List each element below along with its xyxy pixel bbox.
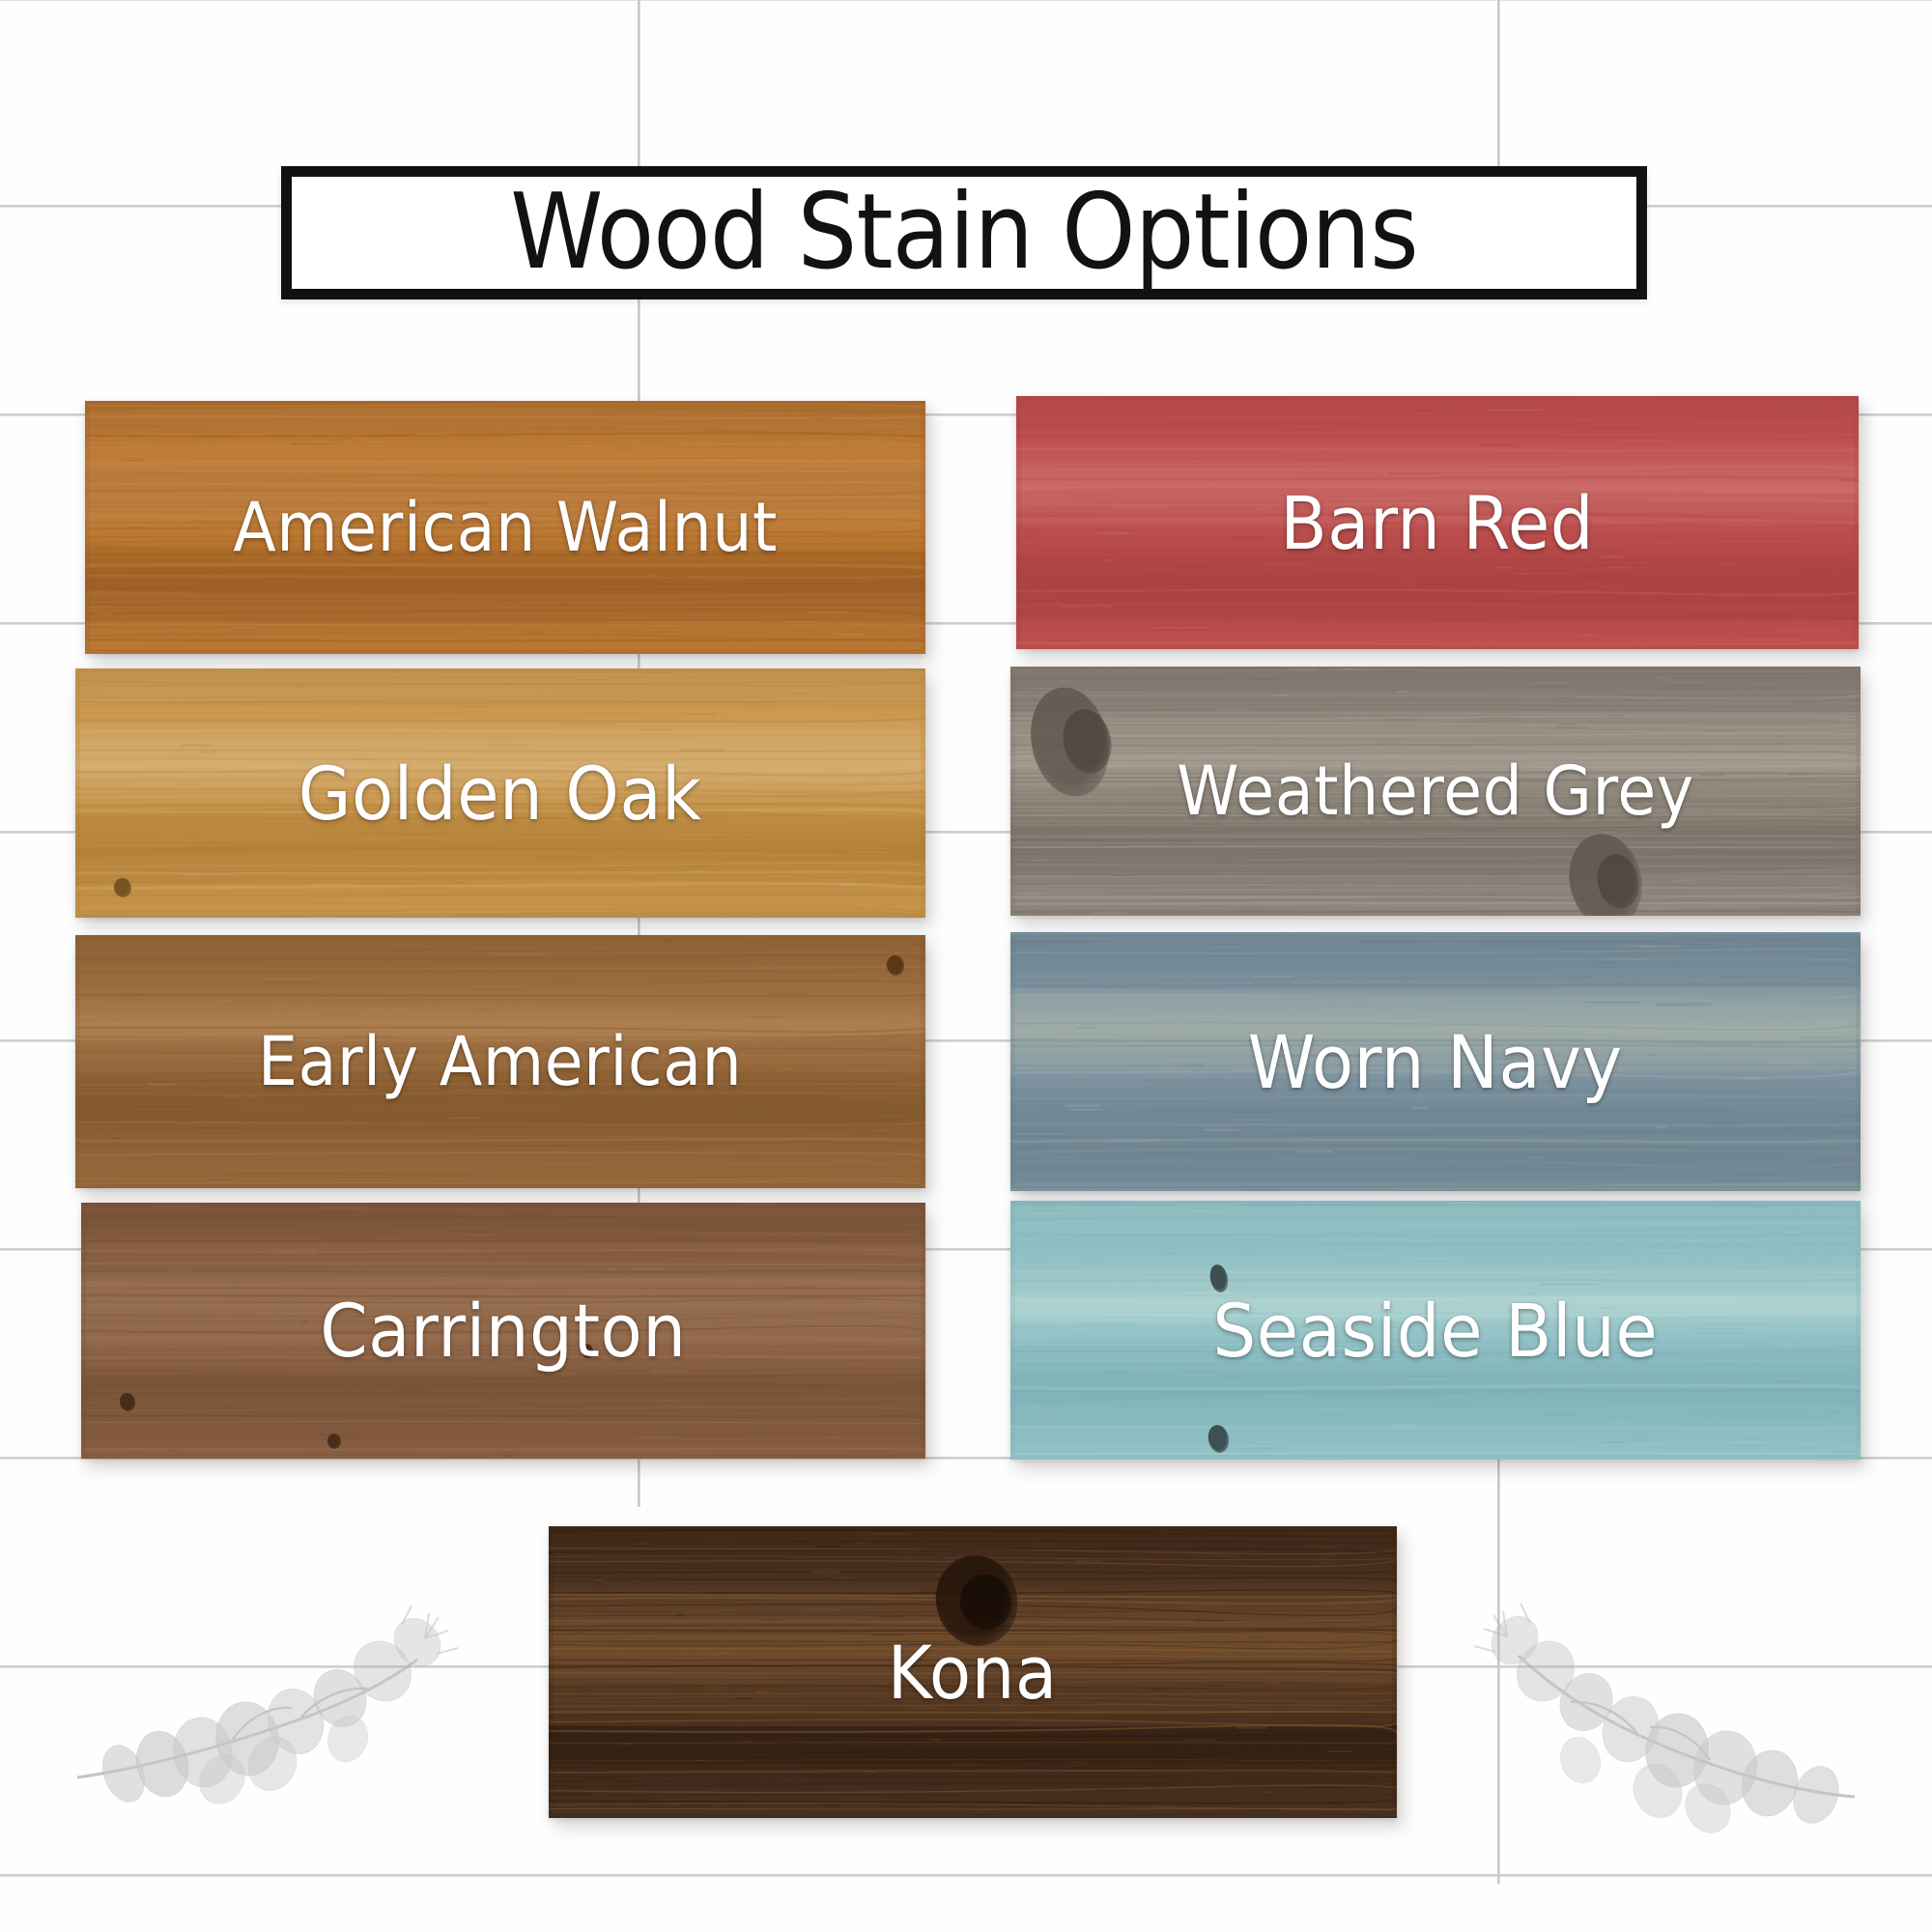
shiplap-seam-line [0,1874,1932,1877]
page-title: Wood Stain Options [510,181,1418,285]
stain-swatch-label: Carrington [320,1288,686,1374]
wood-knot [954,1570,1015,1634]
stain-swatch-kona[interactable]: Kona [549,1526,1397,1818]
stain-swatch-worn-navy[interactable]: Worn Navy [1010,932,1861,1191]
title-banner: Wood Stain Options [281,166,1647,299]
stain-swatch-label: Weathered Grey [1177,752,1694,831]
stain-swatch-barn-red[interactable]: Barn Red [1016,396,1859,649]
eucalyptus-sprig-right-icon [1468,1555,1874,1845]
eucalyptus-sprig-left-icon [58,1575,464,1845]
wood-knot [112,877,132,899]
stain-swatch-seaside-blue[interactable]: Seaside Blue [1010,1201,1861,1460]
stain-swatch-carrington[interactable]: Carrington [81,1203,925,1459]
wood-knot [1561,827,1651,916]
stain-swatch-early-american[interactable]: Early American [75,935,925,1188]
stain-swatch-label: Early American [258,1022,742,1101]
stain-swatch-weathered-grey[interactable]: Weathered Grey [1010,667,1861,916]
stain-swatch-label: Barn Red [1281,480,1595,566]
stain-swatch-american-walnut[interactable]: American Walnut [85,401,925,654]
wood-knot [327,1432,343,1449]
stain-swatch-label: Golden Oak [298,751,702,837]
stain-swatch-label: American Walnut [233,488,778,567]
wood-knot [1206,1423,1232,1455]
wood-knot [1593,850,1644,912]
stain-swatch-label: Worn Navy [1248,1019,1623,1105]
wood-knot [118,1392,136,1412]
wood-knot [885,953,906,977]
shiplap-seam-line [0,0,1932,1]
stain-swatch-golden-oak[interactable]: Golden Oak [75,668,925,918]
stain-swatch-label: Seaside Blue [1213,1288,1659,1374]
wood-knot [1057,704,1117,778]
wood-knot [1021,680,1119,803]
stain-swatch-label: Kona [888,1630,1058,1716]
